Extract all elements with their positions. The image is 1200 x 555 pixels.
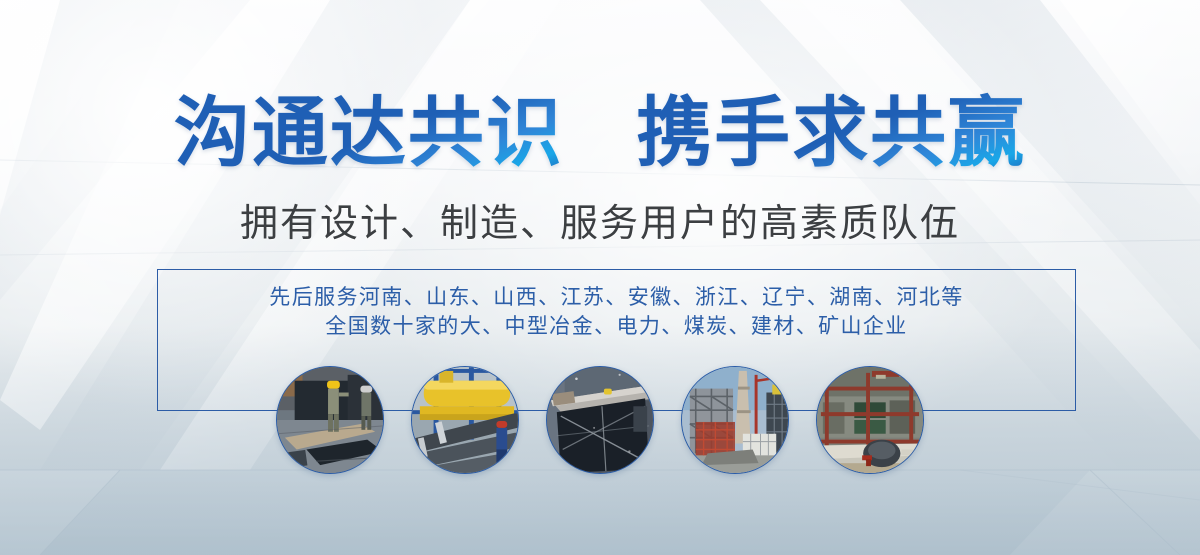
headline: 沟通达共识 携手求共赢 [0,96,1200,172]
description-line-2: 全国数十家的大、中型冶金、电力、煤炭、建材、矿山企业 [157,312,1076,341]
headline-part-1: 沟通达共识 [174,91,564,176]
photo-plant-construction[interactable] [681,366,789,474]
description-line-1: 先后服务河南、山东、山西、江苏、安徽、浙江、辽宁、湖南、河北等 [157,283,1076,312]
subtitle: 拥有设计、制造、服务用户的高素质队伍 [0,204,1200,246]
photo-workshop-interior[interactable] [816,366,924,474]
promo-banner: 沟通达共识 携手求共赢 拥有设计、制造、服务用户的高素质队伍 先后服务河南、山东… [0,0,1200,555]
photo-hopper-structure[interactable] [546,366,654,474]
photo-yellow-conveyor-equipment[interactable] [411,366,519,474]
headline-part-2: 携手求共赢 [636,91,1026,176]
description-text: 先后服务河南、山东、山西、江苏、安徽、浙江、辽宁、湖南、河北等 全国数十家的大、… [157,283,1076,341]
photo-strip [0,366,1200,478]
photo-rubber-lining-install[interactable] [276,366,384,474]
